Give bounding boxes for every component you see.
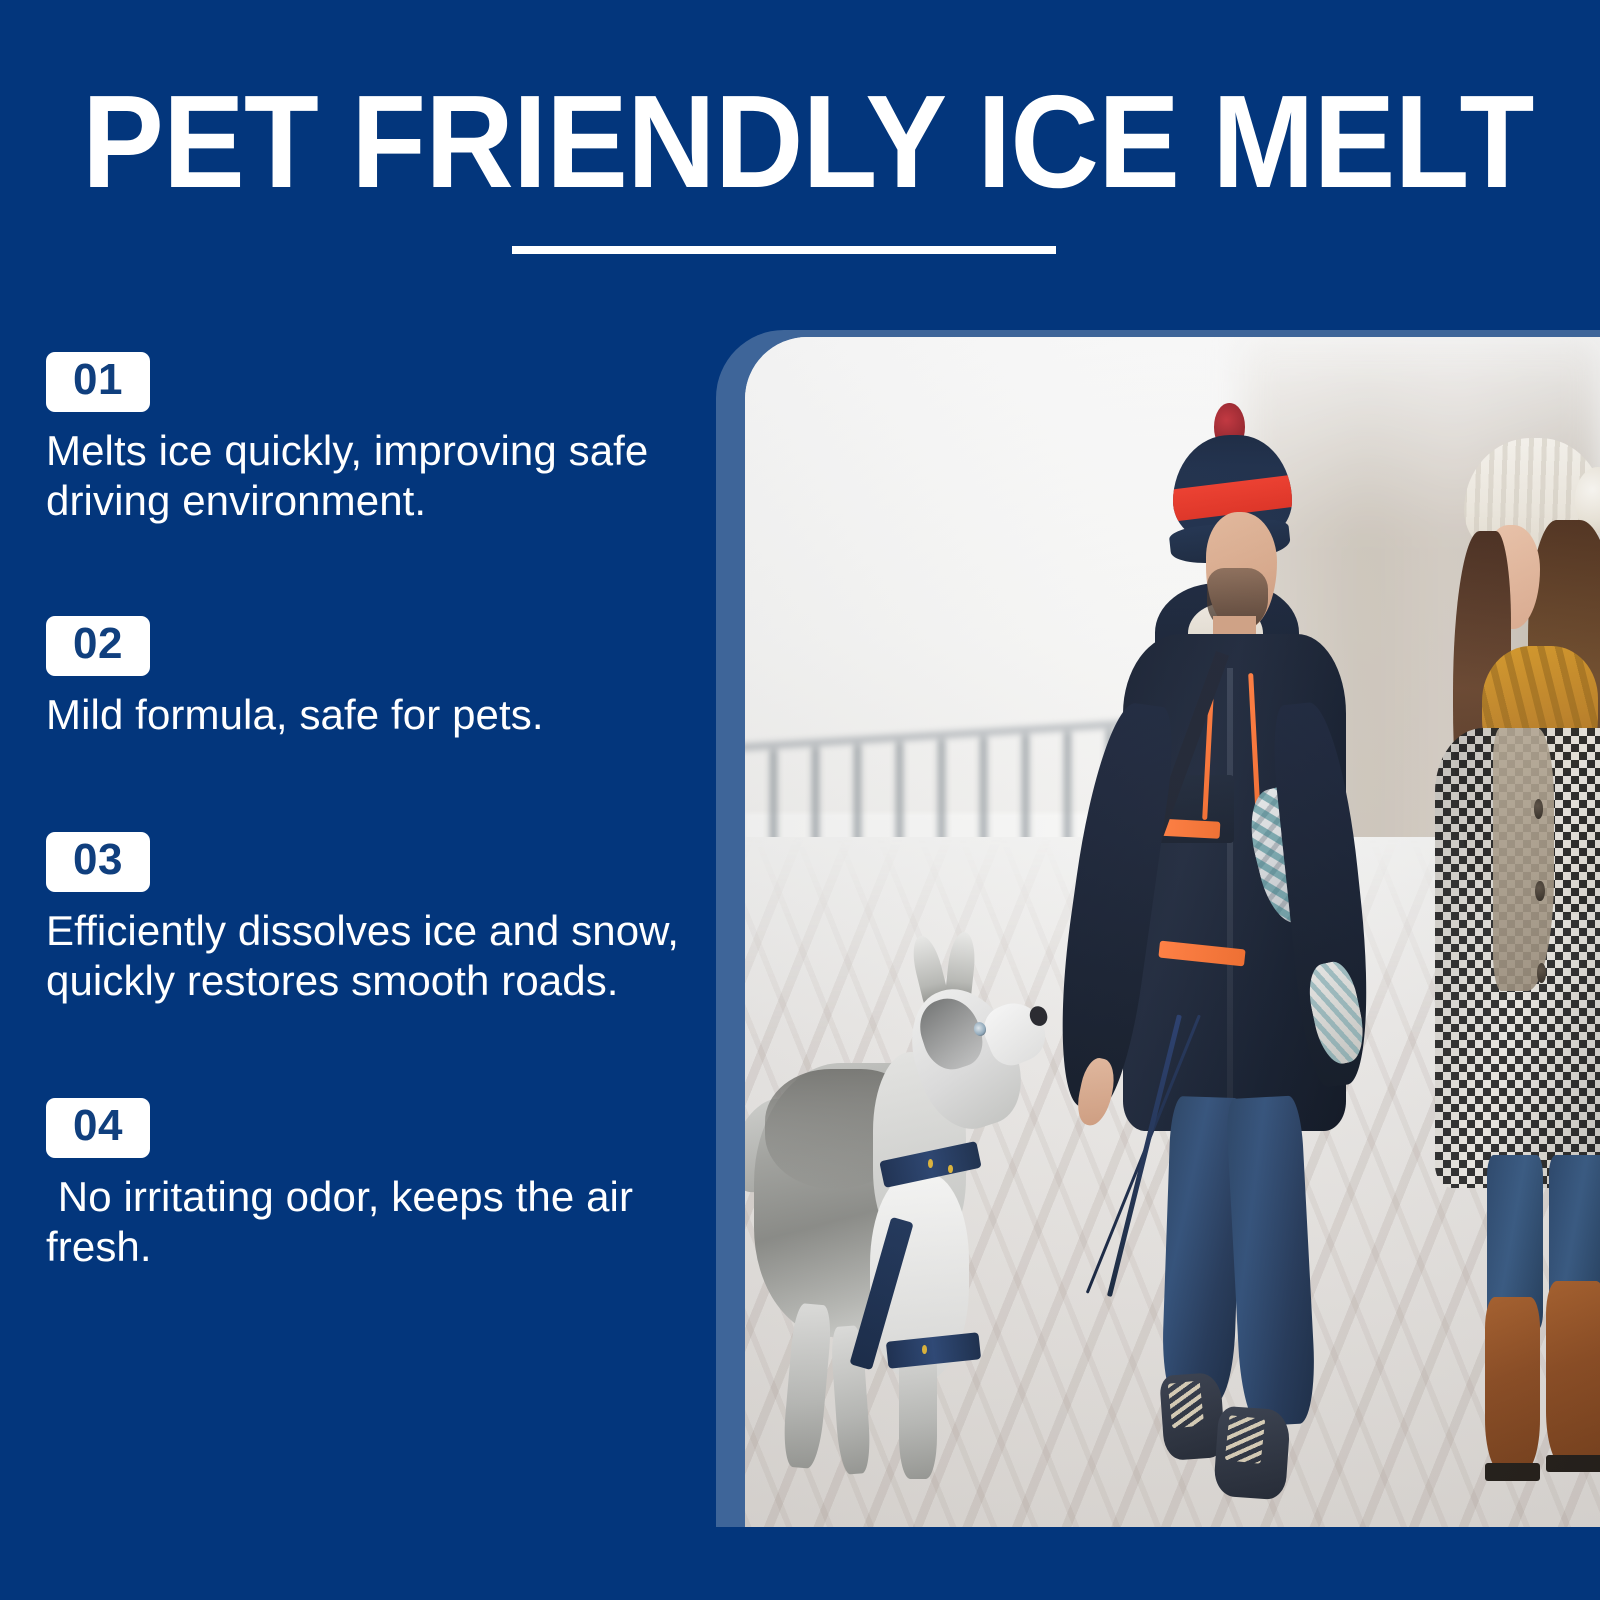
man-figure (1087, 397, 1446, 1528)
feature-number-badge-01: 01 (46, 352, 150, 412)
feature-item-03: 03 Efficiently dissolves ice and snow, q… (46, 832, 706, 1006)
husky-dog (754, 932, 1045, 1479)
lifestyle-photo (745, 337, 1600, 1527)
feature-number-badge-03: 03 (46, 832, 150, 892)
man-left-boot-laces (1167, 1381, 1204, 1429)
man-right-boot-laces (1225, 1416, 1265, 1465)
page-title: PET FRIENDLY ICE MELT (82, 78, 1421, 206)
photo-scene (745, 337, 1600, 1527)
woman-right-boot-sole (1546, 1455, 1600, 1473)
feature-text-04: No irritating odor, keeps the air fresh. (46, 1172, 706, 1272)
feature-text-01: Melts ice quickly, improving safe drivin… (46, 426, 706, 526)
woman-left-boot-sole (1485, 1463, 1540, 1481)
feature-number-badge-02: 02 (46, 616, 150, 676)
woman-coat-button-3 (1537, 963, 1546, 983)
feature-number-badge-04: 04 (46, 1098, 150, 1158)
woman-coat-lapel (1493, 728, 1554, 991)
woman-left-suede-boot (1485, 1297, 1540, 1472)
woman-coat-button-2 (1535, 881, 1544, 901)
feature-text-03: Efficiently dissolves ice and snow, quic… (46, 906, 706, 1006)
woman-coat-button-1 (1534, 799, 1543, 819)
title-divider (512, 246, 1056, 254)
woman-right-suede-boot (1546, 1281, 1600, 1467)
man-right-jeans-leg (1226, 1096, 1318, 1427)
feature-item-01: 01 Melts ice quickly, improving safe dri… (46, 352, 706, 526)
feature-item-02: 02 Mild formula, safe for pets. (46, 616, 706, 740)
dog-harness-accent-1 (928, 1159, 933, 1168)
feature-list: 01 Melts ice quickly, improving safe dri… (46, 352, 706, 1272)
man-jacket-zipper (1227, 668, 1233, 1120)
feature-item-04: 04 No irritating odor, keeps the air fre… (46, 1098, 706, 1272)
dog-harness-accent-3 (922, 1345, 927, 1354)
woman-figure (1412, 432, 1600, 1527)
feature-text-02: Mild formula, safe for pets. (46, 690, 706, 740)
dog-hind-leg-far (781, 1303, 833, 1470)
